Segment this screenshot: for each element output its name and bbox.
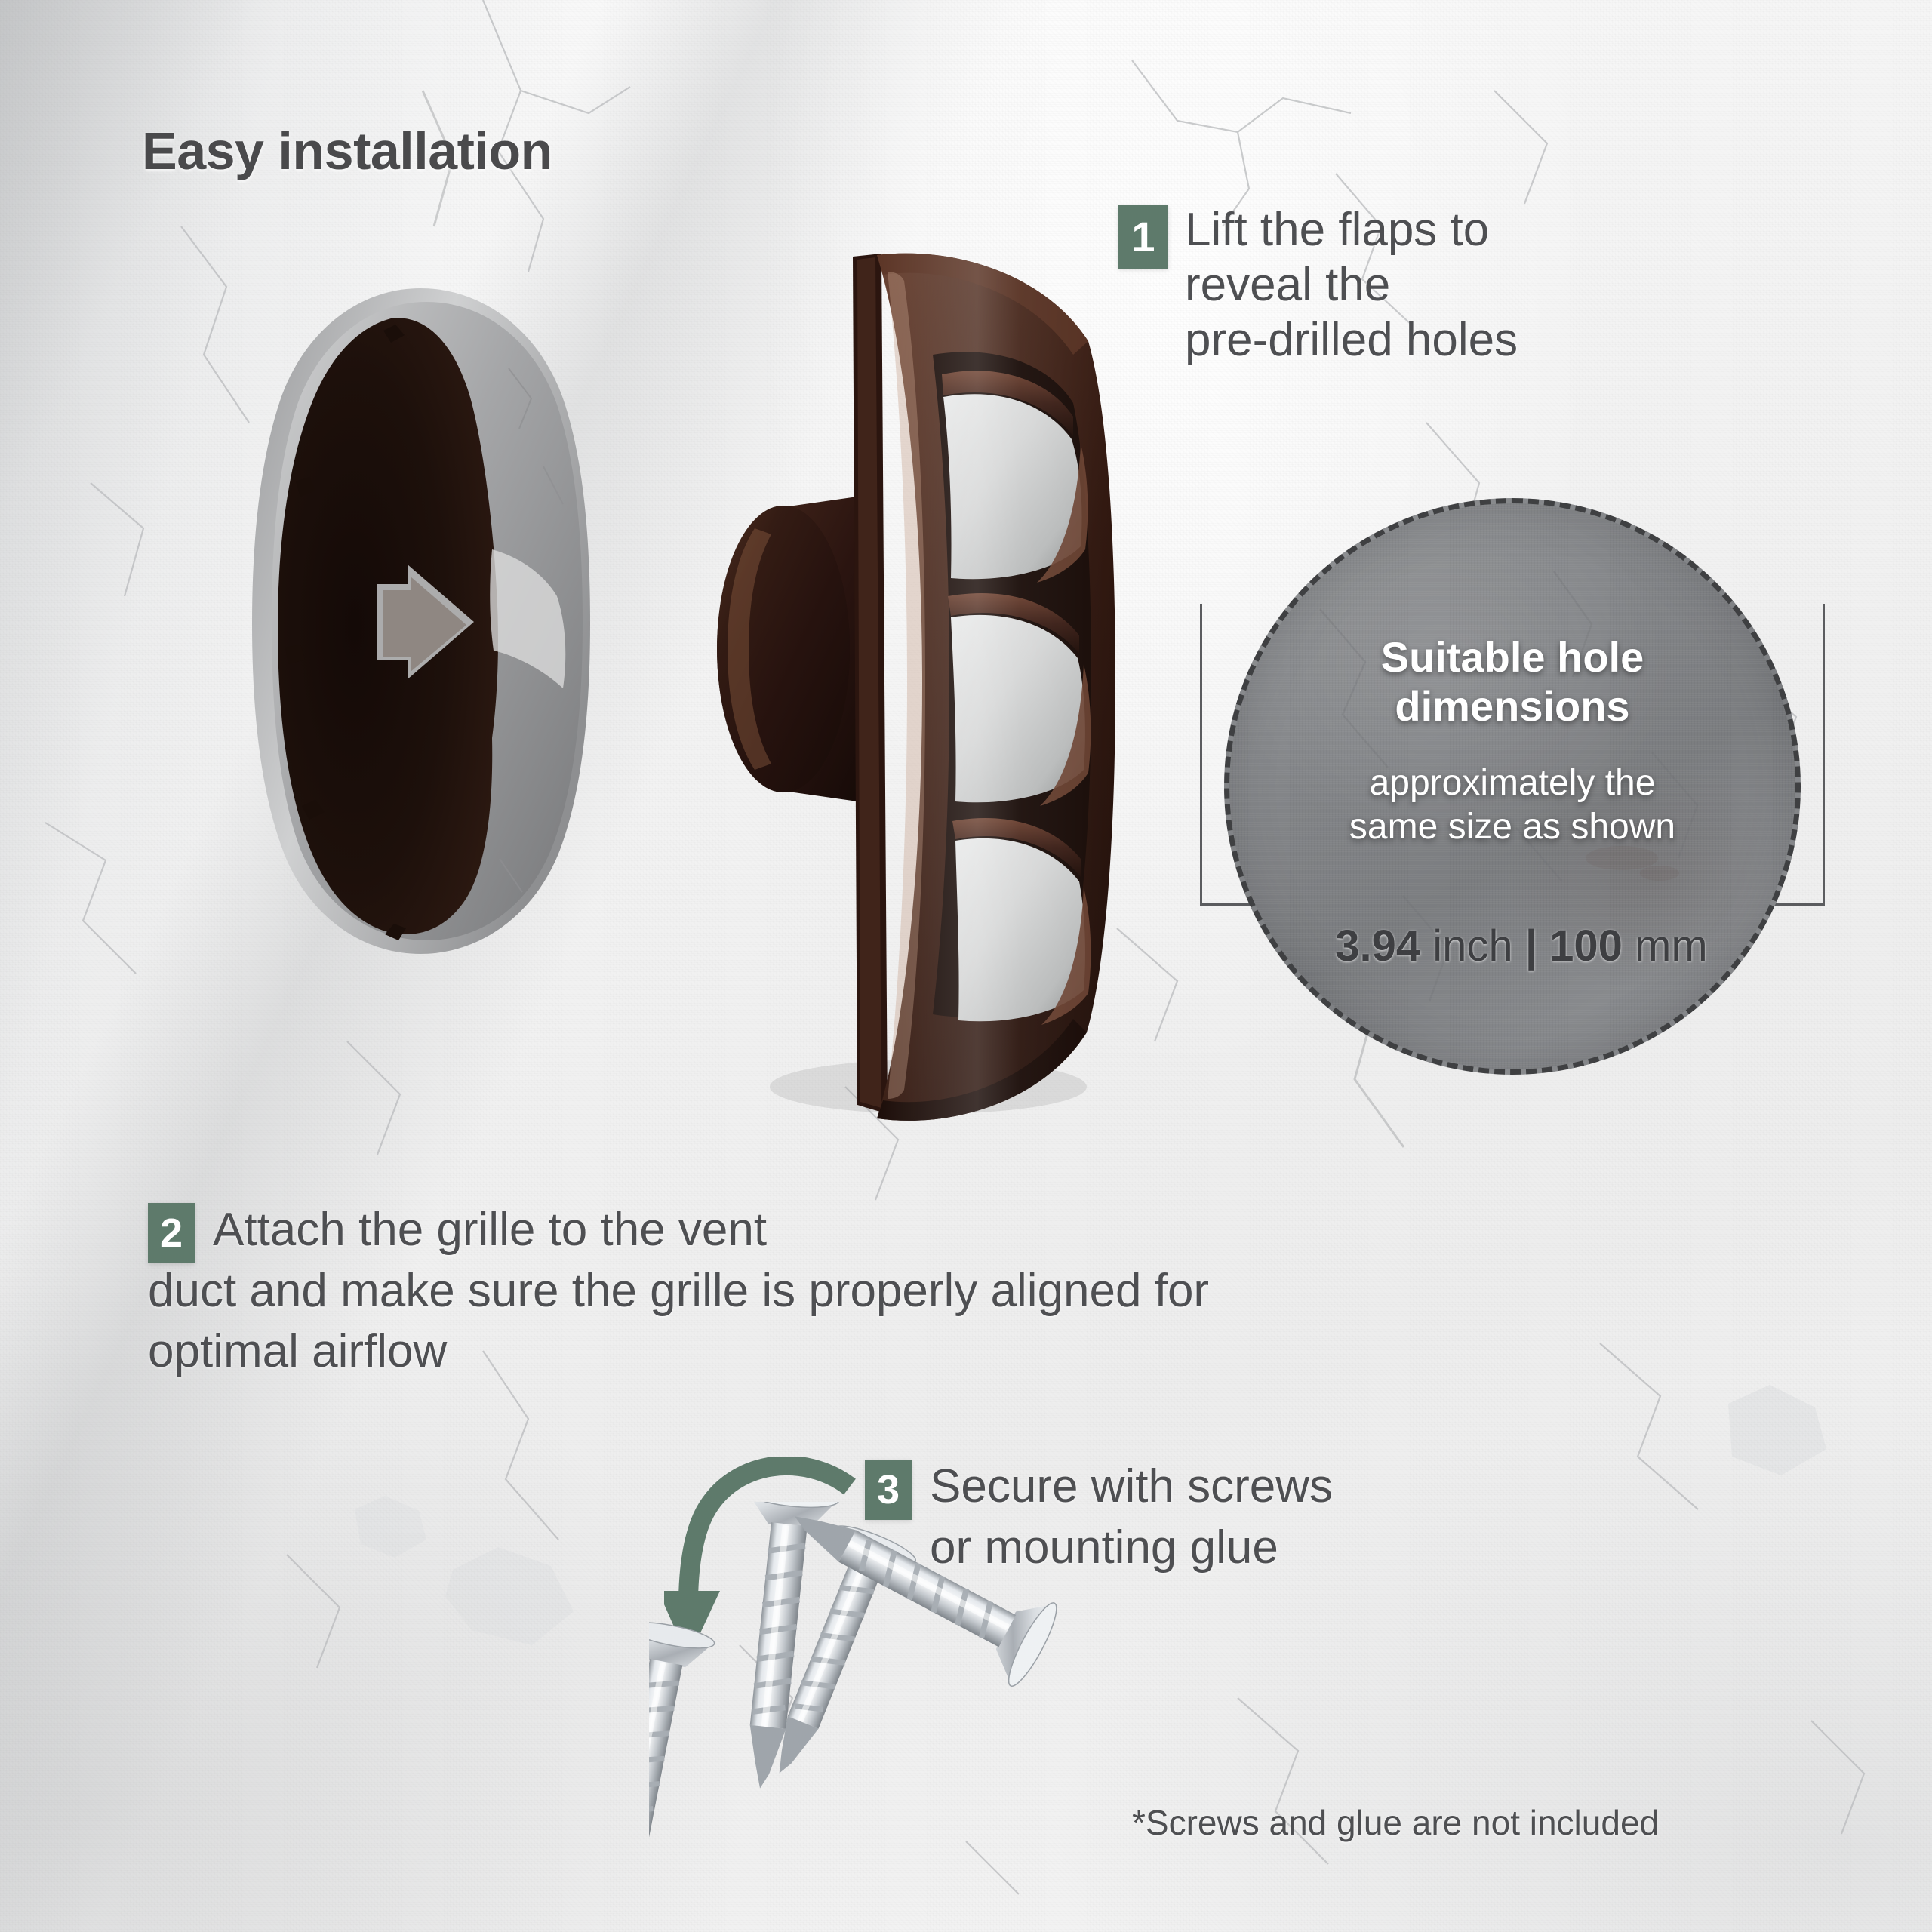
circle-heading-line-1: Suitable hole: [1381, 633, 1644, 681]
dimension-inch-value: 3.94: [1335, 921, 1420, 971]
dimension-label: 3.94 inch | 100 mm: [1189, 921, 1854, 971]
step-1-badge: 1: [1118, 205, 1168, 269]
step-1-line-2: reveal the: [1185, 259, 1390, 311]
circle-sub-line-2: same size as shown: [1349, 807, 1675, 847]
wall-hole-icon: [243, 285, 598, 957]
dimension-mm-value: 100: [1549, 921, 1623, 971]
circle-caption: Suitable hole dimensions approximately t…: [1229, 633, 1795, 848]
screw-1: [649, 1617, 716, 1900]
footnote: *Screws and glue are not included: [1132, 1802, 1659, 1843]
step-3-line-2: or mounting glue: [930, 1521, 1278, 1574]
step-1-text: Lift the flaps to reveal the pre-drilled…: [1118, 202, 1692, 368]
step-2: 2 Attach the grille to the vent duct and…: [148, 1200, 1838, 1383]
step-1: 1 Lift the flaps to reveal the pre-drill…: [1118, 202, 1692, 368]
step-3-text: Secure with screws or mounting glue: [865, 1457, 1620, 1578]
dimension-mm-unit: mm: [1635, 921, 1708, 971]
step-2-line-1: Attach the grille to the vent: [213, 1204, 767, 1256]
vent-grille-icon: [702, 241, 1124, 1147]
size-callout: Suitable hole dimensions approximately t…: [1189, 498, 1854, 1177]
dimension-inch-unit: inch: [1432, 921, 1512, 971]
circle-sub-line-1: approximately the: [1370, 763, 1656, 803]
dimension-separator: |: [1525, 921, 1537, 971]
duct-collar: [717, 495, 868, 803]
step-3-line-1: Secure with screws: [930, 1460, 1333, 1512]
step-1-line-1: Lift the flaps to: [1185, 204, 1489, 256]
step-2-line-3: optimal airflow: [148, 1321, 1838, 1383]
suitable-hole-circle: Suitable hole dimensions approximately t…: [1224, 498, 1801, 1075]
step-2-text: Attach the grille to the vent duct and m…: [148, 1200, 1838, 1383]
step-3: 3 Secure with screws or mounting glue: [865, 1457, 1620, 1578]
step-3-badge: 3: [865, 1460, 912, 1520]
circle-heading-line-2: dimensions: [1395, 682, 1629, 730]
step-2-line-2: duct and make sure the grille is properl…: [148, 1261, 1838, 1322]
step-2-badge: 2: [148, 1203, 195, 1263]
page-title: Easy installation: [142, 121, 552, 181]
step-1-line-3: pre-drilled holes: [1185, 314, 1518, 366]
